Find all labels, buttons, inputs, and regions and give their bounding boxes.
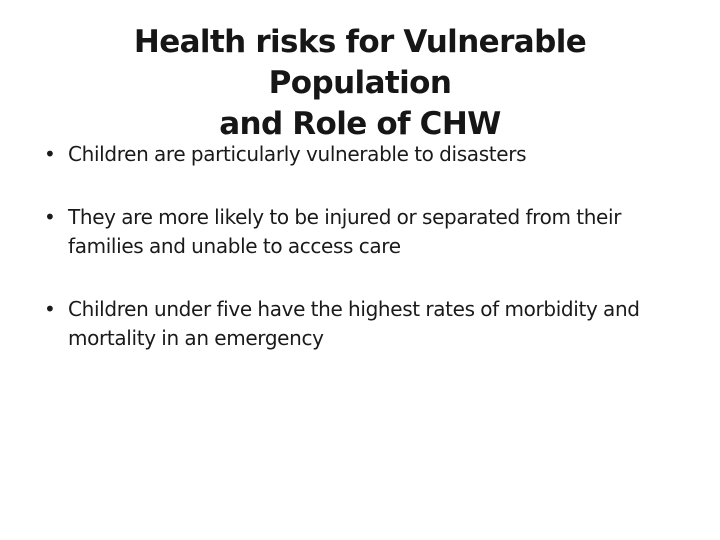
presentation-slide: Health risks for Vulnerable Population a… xyxy=(0,0,720,540)
bullet-text-2: They are more likely to be injured or se… xyxy=(68,203,680,261)
bullet-text-3: Children under five have the highest rat… xyxy=(68,295,680,353)
slide-bullet-list: • Children are particularly vulnerable t… xyxy=(0,140,720,353)
list-item: • Children are particularly vulnerable t… xyxy=(0,140,720,169)
slide-title-line-1: Health risks for Vulnerable Population xyxy=(134,24,586,101)
bullet-point-icon: • xyxy=(44,295,58,324)
bullet-text-1: Children are particularly vulnerable to … xyxy=(68,140,680,169)
bullet-point-icon: • xyxy=(44,203,58,232)
list-item: • They are more likely to be injured or … xyxy=(0,203,720,261)
slide-title: Health risks for Vulnerable Population a… xyxy=(40,22,680,145)
list-item: • Children under five have the highest r… xyxy=(0,295,720,353)
slide-title-line-2: and Role of CHW xyxy=(219,106,501,142)
bullet-point-icon: • xyxy=(44,140,58,169)
